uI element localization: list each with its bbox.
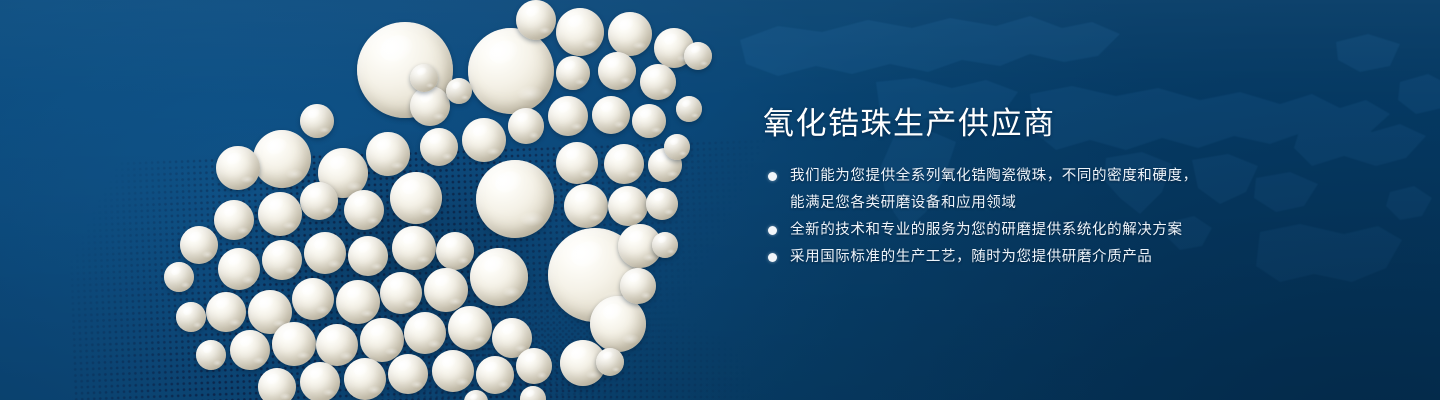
zirconia-bead	[344, 358, 386, 400]
zirconia-bead	[164, 262, 194, 292]
zirconia-bead	[316, 324, 358, 366]
zirconia-bead	[348, 236, 388, 276]
zirconia-bead	[404, 312, 446, 354]
zirconia-bead	[336, 280, 380, 324]
zirconia-bead	[380, 272, 422, 314]
zirconia-bead	[196, 340, 226, 370]
zirconia-bead	[258, 192, 302, 236]
zirconia-bead	[216, 146, 260, 190]
zirconia-bead	[292, 278, 334, 320]
zirconia-bead	[424, 268, 468, 312]
zirconia-bead	[446, 78, 472, 104]
zirconia-bead	[272, 322, 316, 366]
zirconia-bead	[508, 108, 544, 144]
zirconia-bead	[604, 144, 644, 184]
zirconia-bead	[344, 190, 384, 230]
zirconia-bead	[258, 368, 296, 400]
list-item: 采用国际标准的生产工艺，随时为您提供研磨介质产品	[763, 246, 1363, 268]
zirconia-bead	[360, 318, 404, 362]
zirconia-bead	[476, 356, 514, 394]
zirconia-bead	[262, 240, 302, 280]
zirconia-bead	[548, 96, 588, 136]
zirconia-bead	[253, 130, 311, 188]
list-item-label: 能满足您各类研磨设备和应用领域	[790, 195, 1017, 211]
bullet-dot-icon	[768, 253, 777, 262]
zirconia-bead	[464, 390, 488, 400]
zirconia-bead	[620, 268, 656, 304]
zirconia-bead	[664, 134, 690, 160]
zirconia-bead	[676, 96, 702, 122]
zirconia-bead	[410, 86, 450, 126]
zirconia-bead	[468, 28, 554, 114]
bullet-dot-icon	[768, 226, 777, 235]
zirconia-bead	[598, 52, 636, 90]
zirconia-bead	[388, 354, 428, 394]
zirconia-bead	[392, 226, 436, 270]
zirconia-bead	[436, 232, 474, 270]
list-item-continuation: 能满足您各类研磨设备和应用领域	[763, 192, 1363, 214]
zirconia-bead	[590, 296, 646, 352]
zirconia-bead	[556, 56, 590, 90]
zirconia-bead	[520, 386, 546, 400]
zirconia-bead	[206, 292, 246, 332]
zirconia-bead	[684, 42, 712, 70]
bullet-dot-icon	[768, 172, 777, 181]
zirconia-bead	[564, 184, 608, 228]
zirconia-bead	[608, 12, 652, 56]
zirconia-bead	[608, 186, 648, 226]
zirconia-bead	[180, 226, 218, 264]
zirconia-bead	[230, 330, 270, 370]
zirconia-bead	[556, 142, 598, 184]
zirconia-bead	[420, 128, 458, 166]
zirconia-bead	[432, 350, 474, 392]
zirconia-bead	[596, 348, 624, 376]
zirconia-bead	[470, 248, 528, 306]
zirconia-bead	[214, 200, 254, 240]
zirconia-bead	[476, 160, 554, 238]
hero-banner: 氧化锆珠生产供应商 我们能为您提供全系列氧化锆陶瓷微珠，不同的密度和硬度，能满足…	[0, 0, 1440, 400]
zirconia-bead	[448, 306, 492, 350]
zirconia-bead	[556, 8, 604, 56]
zirconia-bead	[300, 104, 334, 138]
page-title: 氧化锆珠生产供应商	[763, 104, 1363, 144]
zirconia-bead	[176, 302, 206, 332]
zirconia-bead	[366, 132, 410, 176]
list-item: 我们能为您提供全系列氧化锆陶瓷微珠，不同的密度和硬度，	[763, 165, 1363, 187]
zirconia-bead	[304, 232, 346, 274]
zirconia-bead	[646, 188, 678, 220]
banner-copy: 氧化锆珠生产供应商 我们能为您提供全系列氧化锆陶瓷微珠，不同的密度和硬度，能满足…	[763, 104, 1363, 284]
zirconia-bead	[516, 348, 552, 384]
list-item-label: 全新的技术和专业的服务为您的研磨提供系统化的解决方案	[790, 222, 1183, 238]
zirconia-bead	[640, 64, 676, 100]
zirconia-bead	[652, 232, 678, 258]
zirconia-bead	[390, 172, 442, 224]
zirconia-bead	[592, 96, 630, 134]
list-item-label: 我们能为您提供全系列氧化锆陶瓷微珠，不同的密度和硬度，	[790, 168, 1198, 184]
zirconia-bead	[632, 104, 666, 138]
zirconia-bead	[516, 0, 556, 40]
list-item: 全新的技术和专业的服务为您的研磨提供系统化的解决方案	[763, 219, 1363, 241]
zirconia-bead	[462, 118, 506, 162]
list-item-label: 采用国际标准的生产工艺，随时为您提供研磨介质产品	[790, 249, 1152, 265]
feature-bullet-list: 我们能为您提供全系列氧化锆陶瓷微珠，不同的密度和硬度，能满足您各类研磨设备和应用…	[763, 165, 1363, 268]
zirconia-bead	[410, 64, 438, 92]
zirconia-bead	[218, 248, 260, 290]
zirconia-bead	[300, 362, 340, 400]
zirconia-bead	[300, 182, 338, 220]
